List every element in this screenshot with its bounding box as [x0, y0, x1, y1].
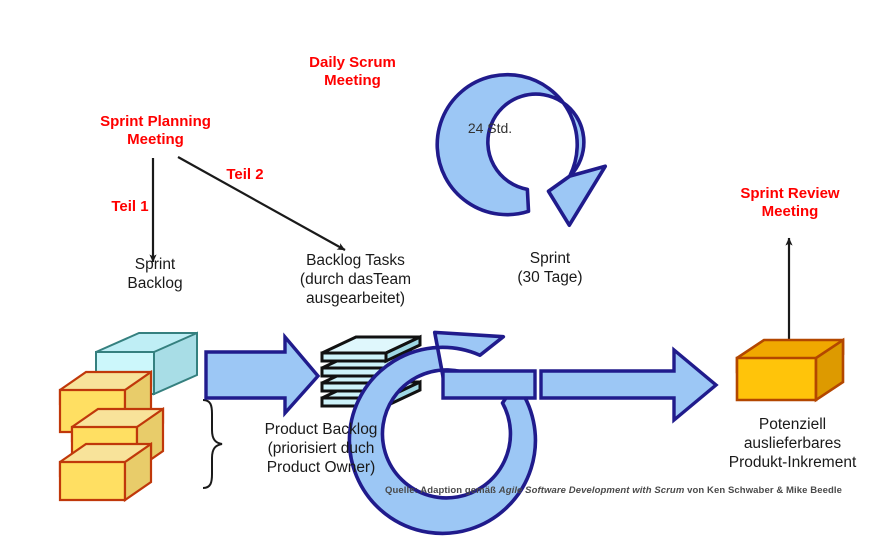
product-increment-block-icon: [737, 340, 843, 400]
sprint-review-meeting-label: Sprint Review Meeting: [715, 185, 865, 222]
sprint-backlog-label: Sprint Backlog: [95, 256, 215, 294]
product-backlog-label: Product Backlog (priorisiert duch Produc…: [231, 421, 411, 478]
citation-suffix: von Ken Schwaber & Mike Beedle: [684, 485, 842, 496]
backlog-tasks-label: Backlog Tasks (durch dasTeam ausgearbeit…: [268, 252, 443, 309]
daily-cycle-duration-label: 24 Std.: [435, 120, 545, 137]
sprint-planning-meeting-label: Sprint Planning Meeting: [63, 113, 248, 150]
citation-prefix: Quelle: Adaption gemäß: [385, 485, 499, 496]
source-citation: Quelle: Adaption gemäß Agile Software De…: [385, 485, 855, 496]
curly-brace-icon: [203, 400, 222, 488]
daily-cycle-icon: [434, 70, 609, 232]
citation-work-title: Agile Software Development with Scrum: [499, 485, 685, 496]
product-backlog-stack-icon: [60, 372, 163, 500]
sprint-duration-label: Sprint (30 Tage): [495, 250, 605, 288]
teil-1-label: Teil 1: [100, 198, 160, 216]
scrum-process-diagram: Sprint Planning Meeting Teil 1 Teil 2 Da…: [0, 0, 885, 543]
product-increment-label: Potenziell auslieferbares Produkt-Inkrem…: [700, 416, 885, 473]
flow-arrow-right-icon: [541, 350, 716, 420]
daily-scrum-meeting-label: Daily Scrum Meeting: [280, 54, 425, 91]
flow-arrow-left-icon: [206, 337, 318, 413]
teil-2-label: Teil 2: [215, 166, 275, 184]
